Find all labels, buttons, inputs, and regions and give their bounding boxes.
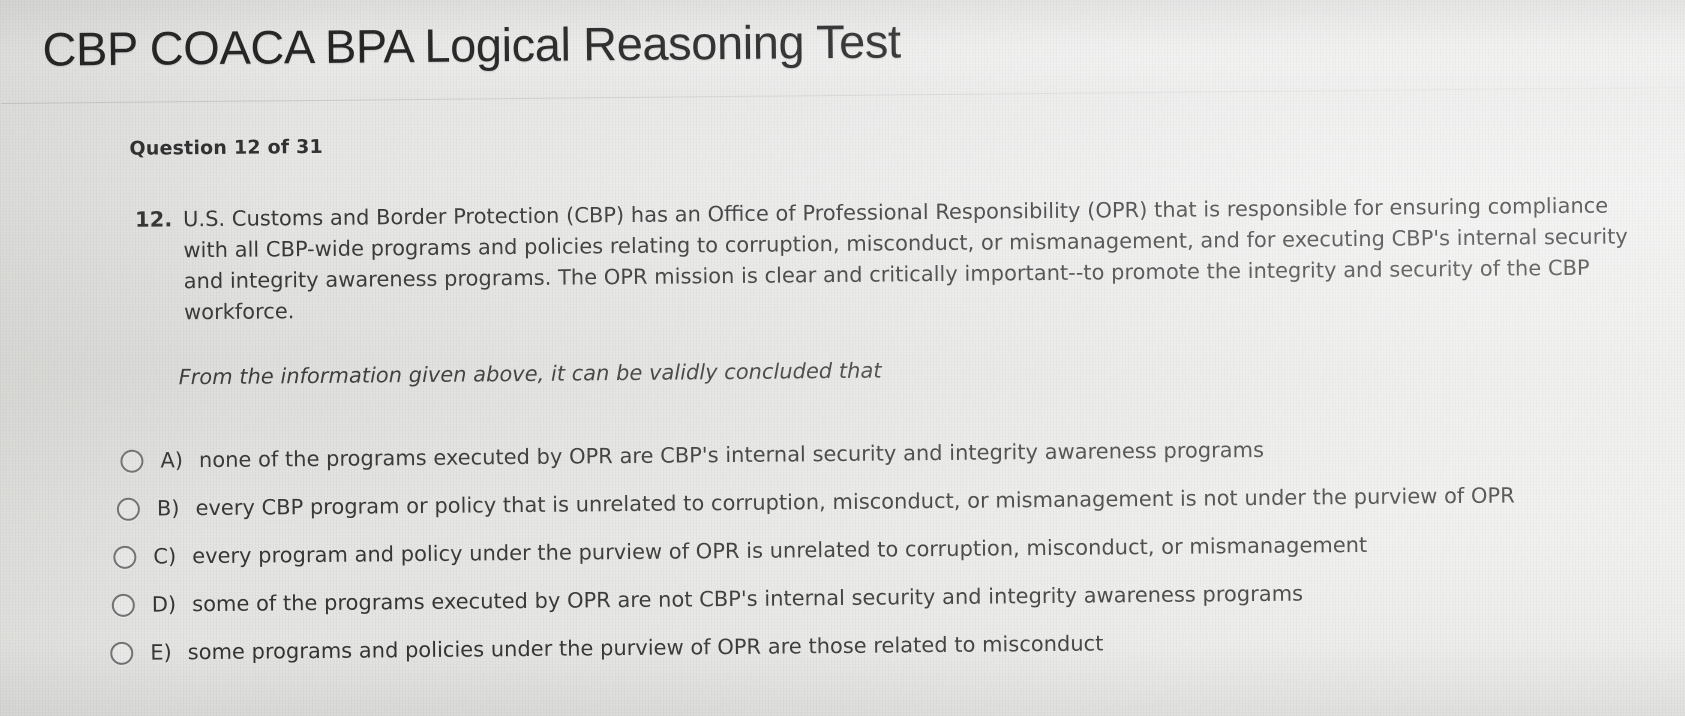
radio-button-icon-c[interactable] bbox=[113, 545, 136, 568]
radio-button-icon-b[interactable] bbox=[117, 497, 140, 520]
option-text-e: some programs and policies under the pur… bbox=[188, 631, 1104, 664]
question-counter: Question 12 of 31 bbox=[129, 136, 323, 160]
option-letter-a: A) bbox=[160, 448, 183, 472]
test-page: CBP COACA BPA Logical Reasoning Test Que… bbox=[0, 0, 1685, 716]
question-stem-text-4: workforce. bbox=[184, 299, 295, 324]
option-text-d: some of the programs executed by OPR are… bbox=[192, 582, 1303, 617]
option-letter-b: B) bbox=[157, 496, 180, 520]
question-prompt: From the information given above, it can… bbox=[178, 356, 881, 393]
answer-options-list: A) none of the programs executed by OPR … bbox=[108, 421, 1685, 677]
radio-button-icon-a[interactable] bbox=[120, 449, 143, 472]
question-number: 12. bbox=[135, 204, 183, 235]
radio-button-icon-e[interactable] bbox=[110, 641, 133, 664]
header-divider bbox=[1, 86, 1685, 104]
option-text-a: none of the programs executed by OPR are… bbox=[199, 438, 1264, 472]
option-text-c: every program and policy under the purvi… bbox=[192, 533, 1367, 568]
option-letter-e: E) bbox=[150, 640, 172, 664]
question-stem: 12.U.S. Customs and Border Protection (C… bbox=[135, 189, 1685, 329]
screen-photo: CBP COACA BPA Logical Reasoning Test Que… bbox=[0, 0, 1685, 716]
radio-button-icon-d[interactable] bbox=[112, 593, 135, 616]
option-letter-c: C) bbox=[153, 544, 176, 568]
option-letter-d: D) bbox=[152, 592, 177, 616]
option-text-b: every CBP program or policy that is unre… bbox=[195, 483, 1514, 520]
page-title: CBP COACA BPA Logical Reasoning Test bbox=[42, 13, 901, 76]
